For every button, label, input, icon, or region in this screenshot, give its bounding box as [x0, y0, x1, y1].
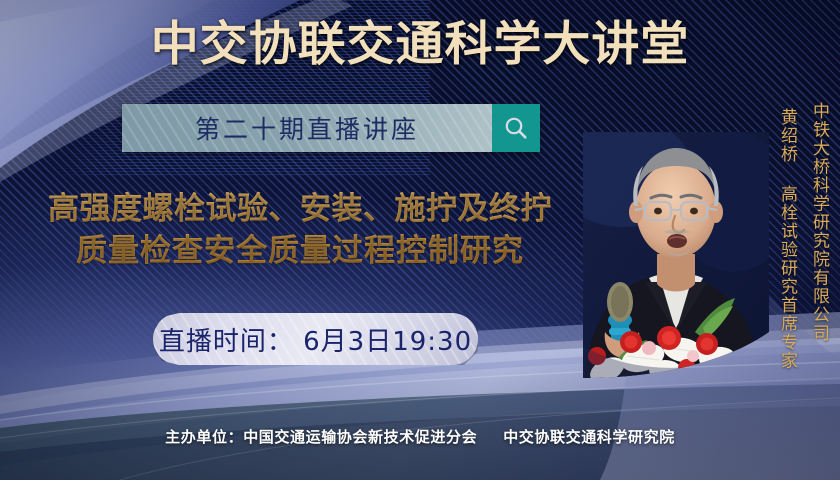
- search-button[interactable]: [492, 104, 540, 152]
- lecture-title-line-1: 高强度螺栓试验、安装、施拧及终拧: [8, 188, 592, 230]
- episode-label: 第二十期直播讲座: [195, 110, 419, 146]
- speaker-photo: [583, 132, 769, 378]
- episode-banner-body: 第二十期直播讲座: [122, 104, 492, 152]
- lecture-title-line-2: 质量检查安全质量过程控制研究: [8, 230, 592, 272]
- search-icon: [503, 115, 529, 141]
- live-time-badge: 直播时间： 6月3日19:30: [153, 313, 478, 365]
- live-event-poster: 中交协联交通科学大讲堂 第二十期直播讲座 高强度螺栓试验、安装、施拧及终拧 质量…: [0, 0, 840, 480]
- live-time-text: 直播时间： 6月3日19:30: [159, 321, 472, 358]
- footer-organizers: 主办单位：中国交通运输协会新技术促进分会中交协联交通科学研究院: [0, 426, 840, 447]
- episode-banner: 第二十期直播讲座: [122, 104, 540, 152]
- footer-organizer-1: 中国交通运输协会新技术促进分会: [243, 428, 477, 446]
- page-title: 中交协联交通科学大讲堂: [0, 16, 840, 74]
- footer-organizer-2: 中交协联交通科学研究院: [503, 428, 675, 446]
- speaker-name-title: 黄绍桥 高栓试验研究首席专家: [777, 108, 796, 370]
- lecture-title: 高强度螺栓试验、安装、施拧及终拧 质量检查安全质量过程控制研究: [8, 188, 592, 272]
- speaker-organization: 中铁大桥科学研究院有限公司: [809, 102, 828, 343]
- footer-organizer-label: 主办单位：: [165, 428, 243, 446]
